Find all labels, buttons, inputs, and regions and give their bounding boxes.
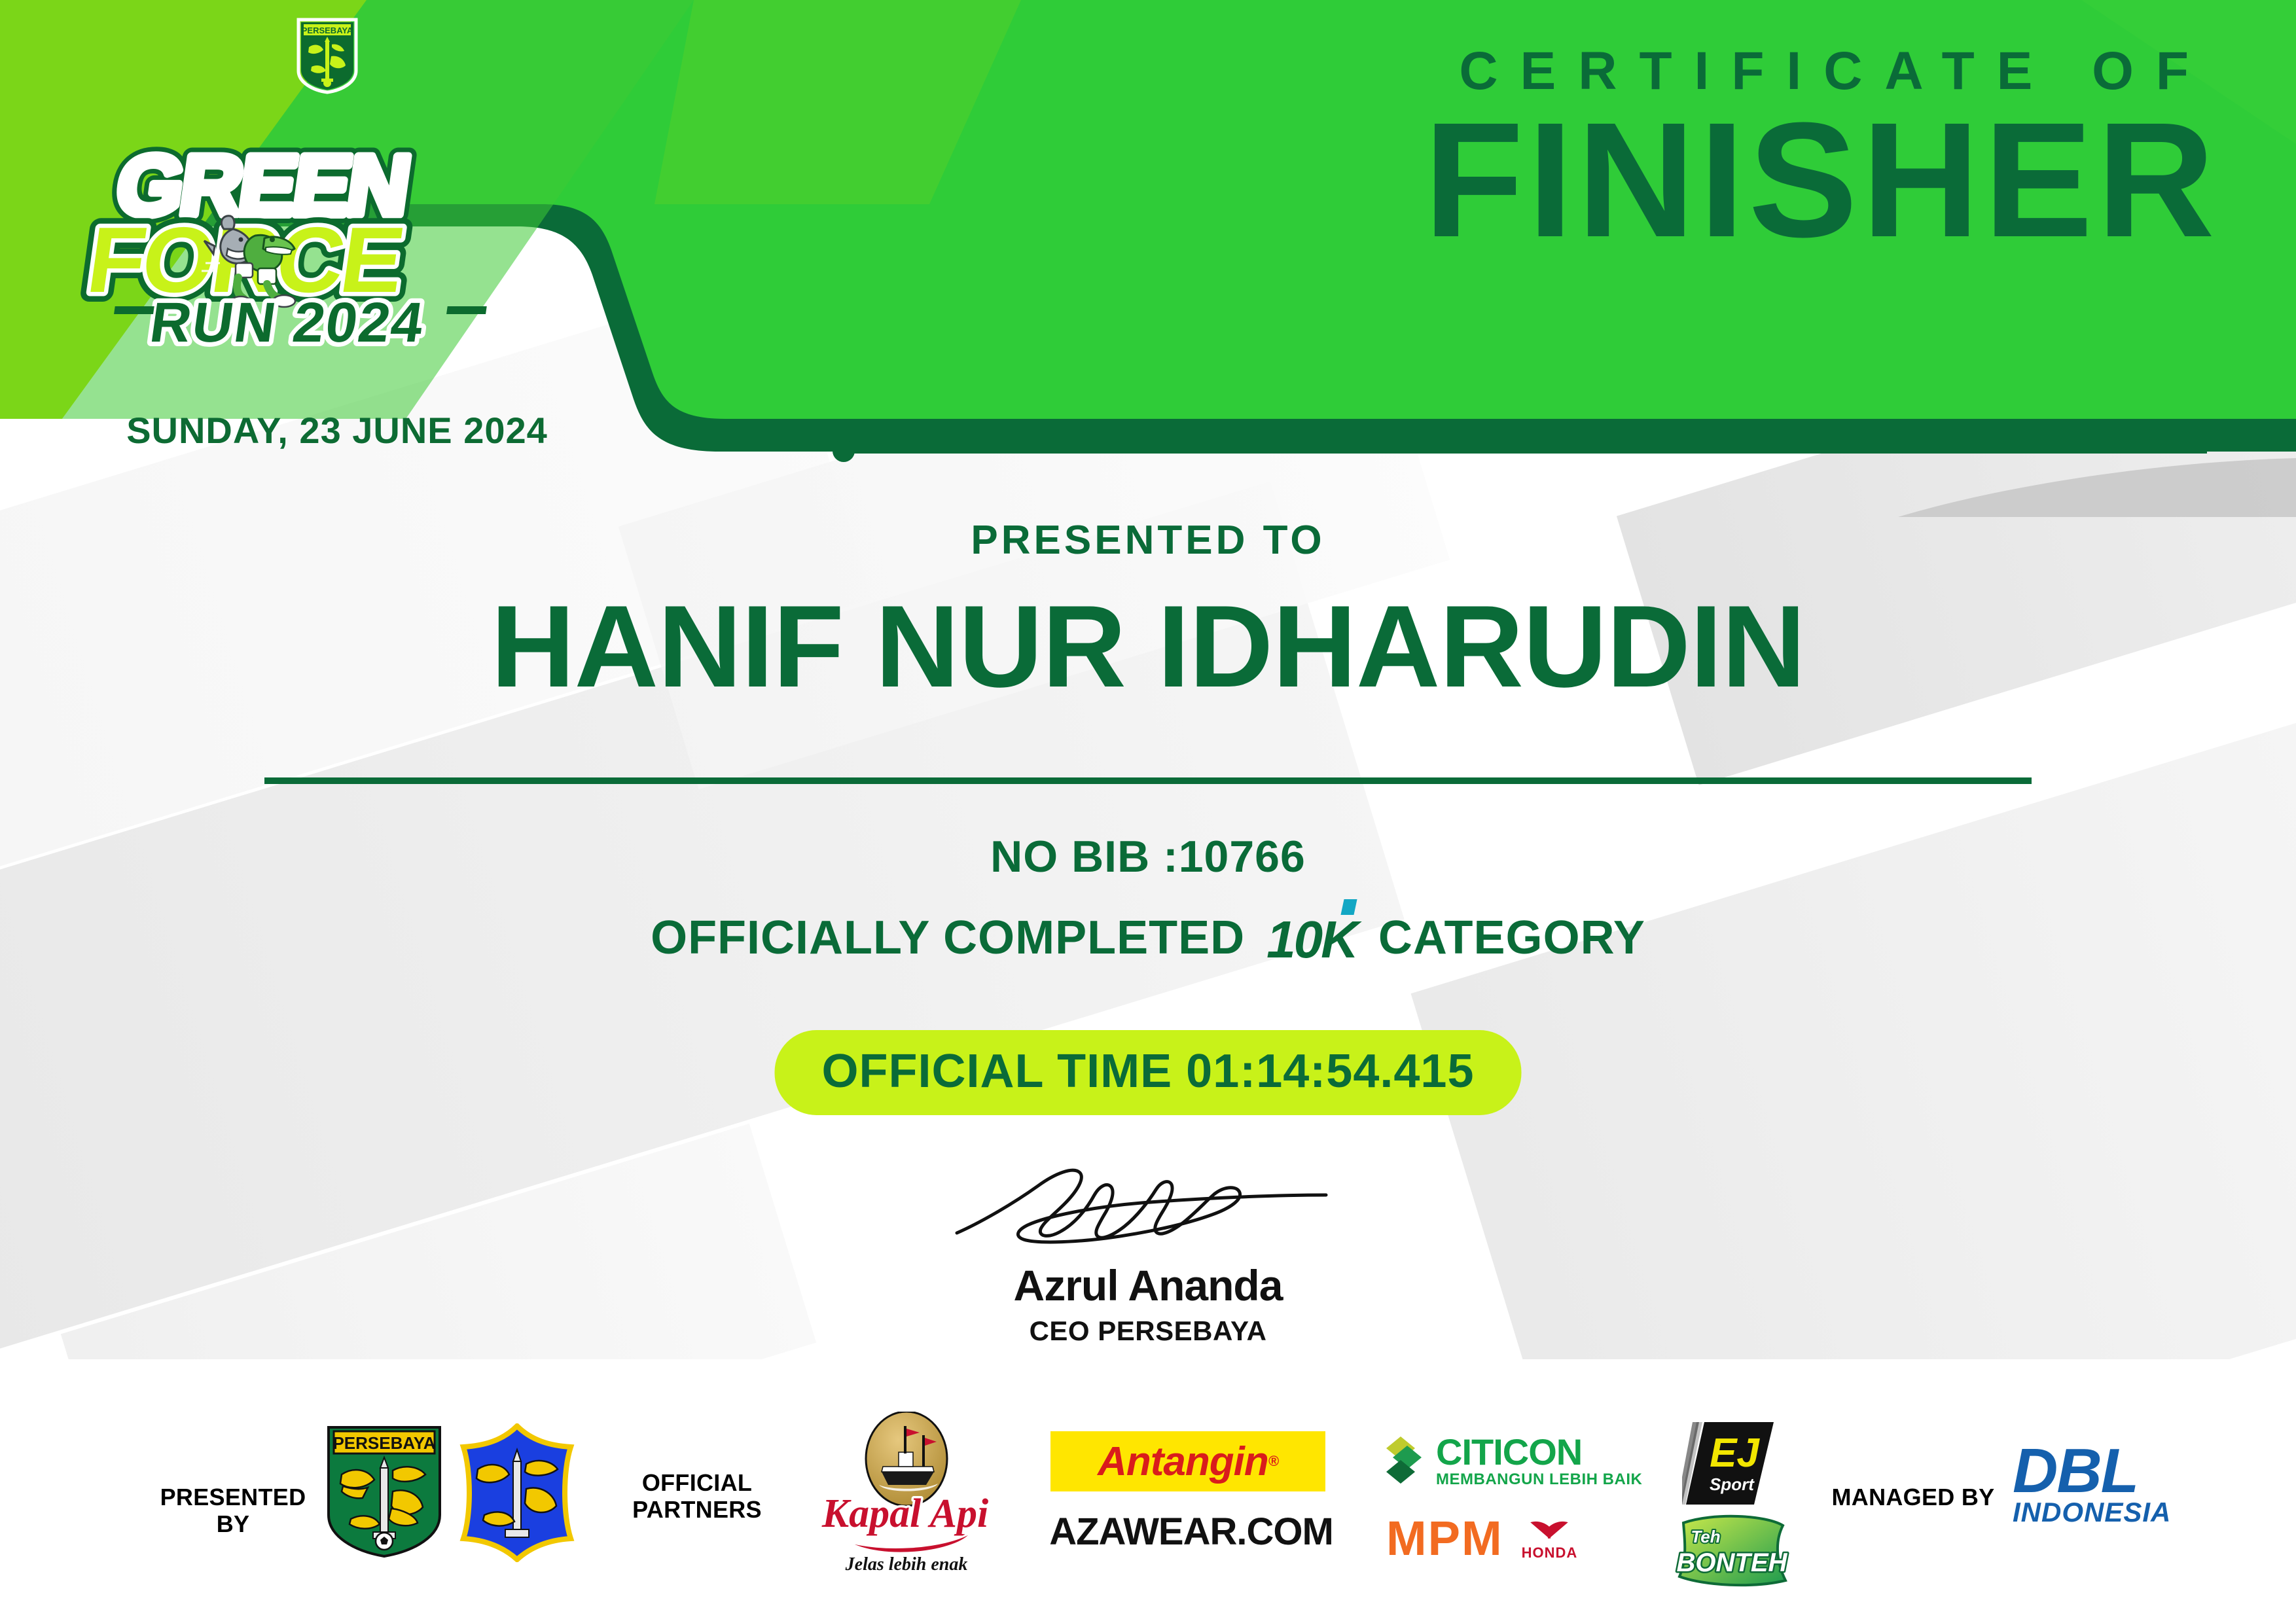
footer-sponsor-strip: PRESENTED BY PERSEBAYA [0,1359,2296,1623]
svg-text:PERSEBAYA: PERSEBAYA [302,26,353,35]
category-10k-number: 10 [1266,910,1321,969]
category-10k-letter: K [1321,910,1357,969]
event-date: SUNDAY, 23 JUNE 2024 [79,409,596,452]
signatory-role: CEO PERSEBAYA [912,1315,1384,1347]
sponsor-logo-kapal-api: Kapal Api Kapal Api Jelas lebih enak Jel… [821,1412,992,1577]
persebaya-crest-icon: PERSEBAYA [296,17,359,94]
sponsor-logo-azawear: AZAWEAR.COM [1054,1508,1329,1554]
certificate-page: PERSEBAYA GREEN GREEN G [0,0,2296,1623]
mpm-wordmark: MPM [1386,1514,1503,1563]
name-underline [264,777,2032,784]
completed-suffix: CATEGORY [1378,912,1645,964]
svg-text:RUN 2024: RUN 2024 [146,291,428,347]
official-partners-line2: PARTNERS [625,1496,769,1523]
decorative-dot-rule [833,440,2207,459]
decorative-line [852,449,2207,454]
recipient-name: HANIF NUR IDHARUDIN [0,586,2296,708]
presented-to-label: PRESENTED TO [0,517,2296,563]
bib-number-line: NO BIB :10766 [0,831,2296,882]
official-partners-line1: OFFICIAL [625,1469,769,1496]
sponsor-logo-east-java [458,1423,576,1562]
svg-text:Jelas lebih enak: Jelas lebih enak [845,1554,968,1575]
decorative-dot-icon [833,440,855,462]
honda-wing-icon [1525,1516,1573,1541]
ej-wordmark: EJ [1710,1431,1760,1476]
green-force-run-logo: GREEN GREEN GREEN FORCE FORCE FORCE [79,137,589,347]
svg-text:PERSEBAYA: PERSEBAYA [332,1433,435,1453]
signature-block: Azrul Ananda CEO PERSEBAYA [912,1157,1384,1347]
antangin-wordmark: Antangin [1098,1438,1268,1485]
official-time-label: OFFICIAL TIME [822,1045,1173,1097]
dbl-wordmark: DBL [2013,1444,2229,1499]
certificate-title-line2: FINISHER [1424,98,2219,262]
citicon-wordmark: CITICON [1436,1434,1642,1471]
category-10k-badge-icon: 10K [1266,910,1357,970]
sponsor-logo-teh-bonteh: Teh Teh BONTEH BONTEH [1668,1511,1792,1590]
ej-sub: Sport [1710,1474,1755,1494]
svg-text:BONTEH: BONTEH [1677,1548,1788,1577]
citicon-mark-icon [1381,1431,1427,1491]
svg-text:Teh: Teh [1691,1527,1720,1546]
sponsor-logo-antangin: Antangin® [1050,1431,1325,1491]
svg-text:Kapal Api: Kapal Api [821,1491,988,1536]
official-time-badge: OFFICIAL TIME 01:14:54.415 [775,1030,1522,1115]
official-partners-label: OFFICIAL PARTNERS [625,1469,769,1524]
signature-icon [919,1157,1377,1262]
citicon-tagline: MEMBANGUN LEBIH BAIK [1436,1471,1642,1489]
sponsor-logo-ej-sport: EJ Sport [1682,1422,1774,1505]
azawear-wordmark: AZAWEAR.COM [1049,1510,1333,1554]
completed-prefix: OFFICIALLY COMPLETED [651,912,1245,964]
official-time-value: 01:14:54.415 [1186,1045,1474,1097]
category-line: OFFICIALLY COMPLETED 10K CATEGORY [0,910,2296,970]
dbl-sub-wordmark: INDONESIA [2013,1499,2229,1526]
signatory-name: Azrul Ananda [912,1260,1384,1310]
presented-by-label: PRESENTED BY [154,1484,312,1538]
bib-value: 10766 [1179,832,1306,882]
sponsor-logo-persebaya: PERSEBAYA [322,1423,446,1561]
bib-label: NO BIB : [990,832,1179,882]
sponsor-logo-dbl-indonesia: DBL INDONESIA [2013,1444,2229,1543]
managed-by-label: MANAGED BY [1831,1484,1995,1510]
header-content: PERSEBAYA GREEN GREEN G [0,0,2296,458]
honda-wordmark: HONDA [1522,1544,1578,1561]
sponsor-logo-citicon: CITICON MEMBANGUN LEBIH BAIK [1381,1431,1643,1491]
antangin-registered-icon: ® [1268,1453,1278,1470]
sponsor-logo-mpm-honda: MPM HONDA [1386,1508,1570,1569]
